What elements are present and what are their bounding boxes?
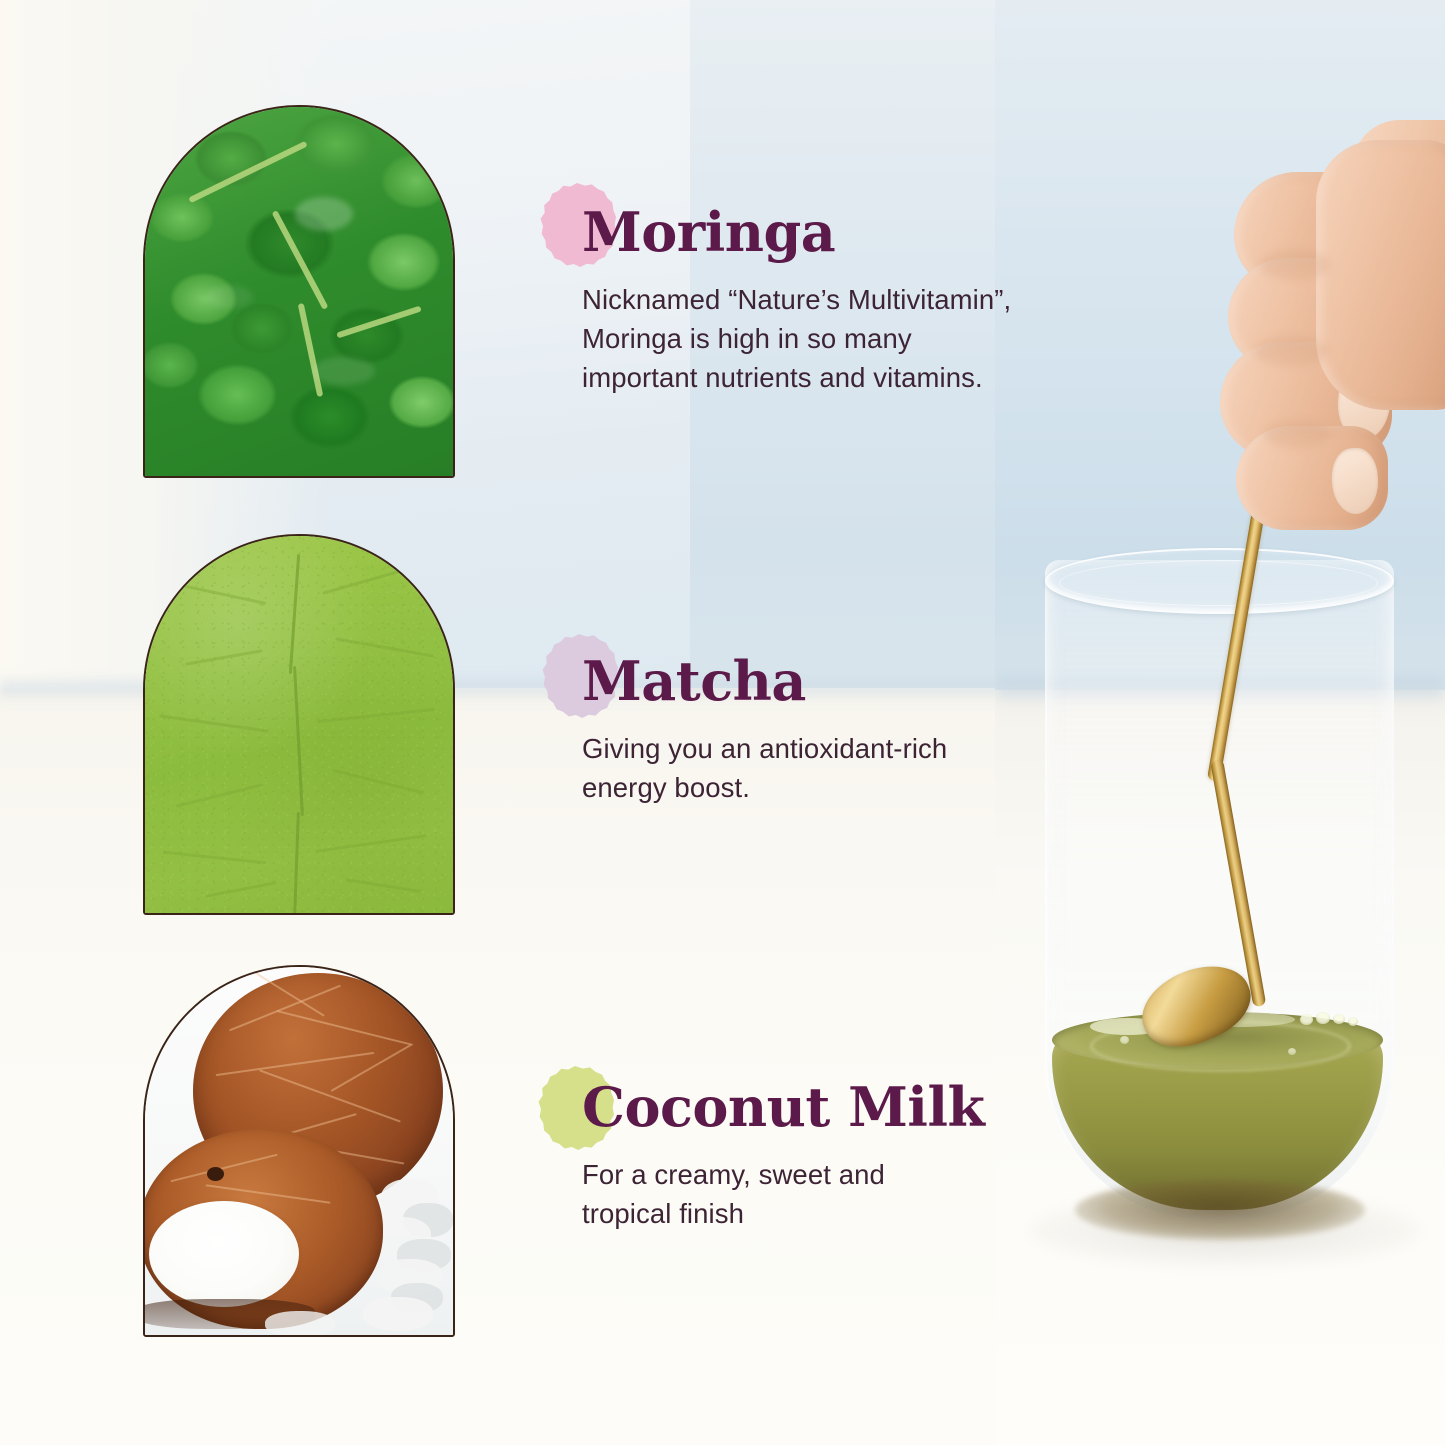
ingredient-description-moringa: Nicknamed “Nature’s Multivitamin”, Morin…	[582, 280, 1082, 397]
ingredient-image-moringa	[143, 105, 455, 478]
ingredient-heading-coconut: Coconut Milk	[582, 1080, 1082, 1134]
knuckle-shadow	[1264, 420, 1330, 448]
ingredient-heading-moringa: Moringa	[582, 205, 1082, 259]
drink-bubble	[1300, 1014, 1313, 1025]
ingredient-description-coconut: For a creamy, sweet and tropical finish	[582, 1155, 1082, 1233]
thumb	[1316, 140, 1445, 410]
drink-bubble	[1348, 1017, 1358, 1026]
moringa-leaves-photo	[145, 107, 453, 476]
drink-bubble	[1316, 1012, 1330, 1024]
coconut-photo	[145, 967, 453, 1335]
ingredient-text-moringa: Moringa Nicknamed “Nature’s Multivitamin…	[582, 205, 1082, 397]
ingredient-text-matcha: Matcha Giving you an antioxidant-rich en…	[582, 654, 1082, 807]
knuckle-shadow	[1254, 336, 1328, 366]
ingredient-description-matcha: Giving you an antioxidant-rich energy bo…	[582, 729, 1082, 807]
infographic-canvas: Moringa Nicknamed “Nature’s Multivitamin…	[0, 0, 1445, 1445]
glass-base-shadow	[1075, 1180, 1365, 1240]
knuckle-shadow	[1260, 250, 1330, 280]
ingredient-image-matcha	[143, 534, 455, 915]
ingredient-heading-matcha: Matcha	[582, 654, 1082, 708]
ingredient-image-coconut	[143, 965, 455, 1337]
matcha-powder-photo	[145, 536, 453, 913]
hand	[1220, 130, 1445, 610]
ingredient-text-coconut: Coconut Milk For a creamy, sweet and tro…	[582, 1080, 1082, 1233]
drink-bubble	[1333, 1014, 1345, 1024]
